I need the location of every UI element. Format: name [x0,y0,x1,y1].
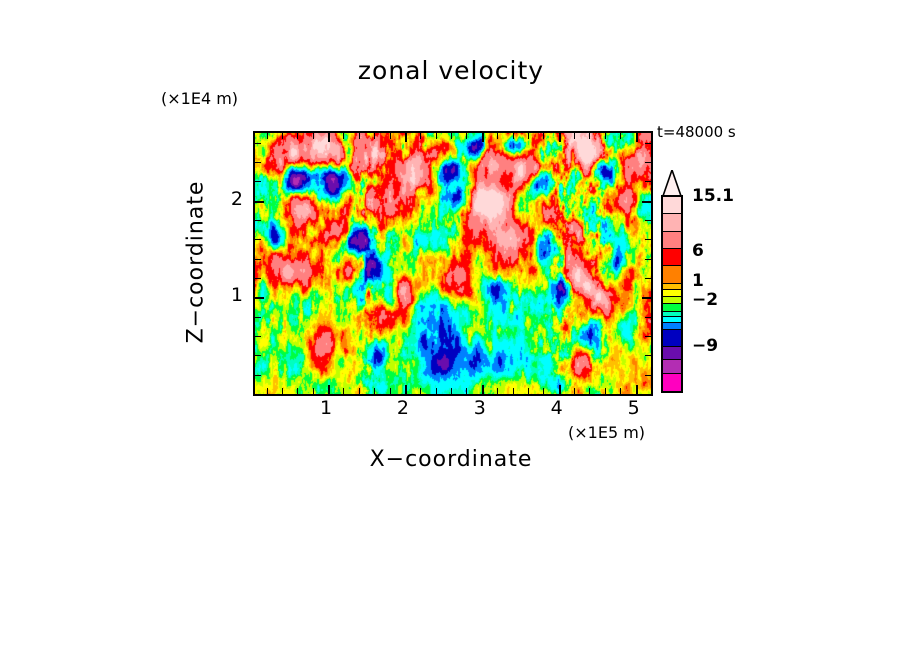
major-tick [328,385,330,394]
minor-tick [359,388,360,394]
x-tick-label: 2 [397,397,409,419]
x-tick-label: 1 [320,397,332,419]
y-axis-title: Z−coordinate [184,181,209,344]
colorbar-label: −2 [692,290,718,310]
x-axis-unit-label: (×1E5 m) [568,423,645,442]
colorbar-band [663,360,681,373]
minor-tick [645,355,651,356]
minor-tick [343,388,344,394]
minor-tick [451,388,452,394]
minor-tick [282,388,283,394]
minor-tick [589,388,590,394]
major-tick [642,201,651,203]
major-tick [405,385,407,394]
colorbar-band [663,290,681,297]
minor-tick [645,278,651,279]
colorbar-band [663,330,681,347]
minor-tick [513,133,514,139]
colorbar-band [663,214,681,231]
x-axis-title: X−coordinate [253,447,649,472]
minor-tick [451,133,452,139]
minor-tick [255,259,261,260]
minor-tick [255,239,261,240]
colorbar-label: −9 [692,336,718,356]
minor-tick [267,133,268,139]
major-tick [636,385,638,394]
minor-tick [255,375,261,376]
minor-tick [255,278,261,279]
x-tick-label: 5 [628,397,640,419]
major-tick [642,297,651,299]
minor-tick [589,133,590,139]
minor-tick [543,388,544,394]
major-tick [482,385,484,394]
minor-tick [645,336,651,337]
major-tick [255,297,264,299]
major-tick [559,133,561,142]
major-tick [636,133,638,142]
minor-tick [605,133,606,139]
x-tick-label: 3 [474,397,486,419]
minor-tick [436,133,437,139]
minor-tick [255,162,261,163]
minor-tick [297,133,298,139]
colorbar-label: 15.1 [692,186,734,206]
major-tick [559,385,561,394]
colorbar-band [663,347,681,360]
minor-tick [313,133,314,139]
minor-tick [420,133,421,139]
colorbar-bands [661,195,683,393]
colorbar-band [663,232,681,249]
minor-tick [528,133,529,139]
colorbar-band [663,374,681,391]
minor-tick [574,133,575,139]
colorbar-band [663,304,681,312]
minor-tick [282,133,283,139]
x-tick-label: 4 [551,397,563,419]
time-annotation: t=48000 s [657,123,736,141]
colorbar-band [663,284,681,291]
minor-tick [255,220,261,221]
minor-tick [605,388,606,394]
minor-tick [374,133,375,139]
minor-tick [255,355,261,356]
minor-tick [497,133,498,139]
minor-tick [620,388,621,394]
y-tick-label: 1 [231,284,243,306]
y-axis-unit-label: (×1E4 m) [161,89,238,108]
figure-canvas: zonal velocity (×1E4 m) t=48000 s 12345 … [0,0,904,654]
minor-tick [645,220,651,221]
minor-tick [466,388,467,394]
minor-tick [645,143,651,144]
colorbar-band [663,249,681,266]
minor-tick [528,388,529,394]
minor-tick [466,133,467,139]
minor-tick [543,133,544,139]
minor-tick [313,388,314,394]
minor-tick [343,133,344,139]
major-tick [482,133,484,142]
minor-tick [513,388,514,394]
minor-tick [255,336,261,337]
minor-tick [255,317,261,318]
minor-tick [390,133,391,139]
minor-tick [436,388,437,394]
minor-tick [645,239,651,240]
colorbar [661,170,683,393]
minor-tick [255,143,261,144]
minor-tick [359,133,360,139]
minor-tick [497,388,498,394]
colorbar-label: 1 [692,271,704,291]
minor-tick [574,388,575,394]
minor-tick [390,388,391,394]
colorbar-band [663,297,681,304]
minor-tick [255,181,261,182]
colorbar-arrow-icon [661,170,683,196]
minor-tick [297,388,298,394]
plot-area [253,131,653,396]
minor-tick [645,317,651,318]
minor-tick [267,388,268,394]
major-tick [328,133,330,142]
minor-tick [645,162,651,163]
velocity-field-heatmap [255,133,651,394]
minor-tick [645,181,651,182]
minor-tick [645,375,651,376]
minor-tick [374,388,375,394]
colorbar-label: 6 [692,241,704,261]
colorbar-band [663,323,681,330]
y-tick-label: 2 [231,188,243,210]
colorbar-band [663,197,681,214]
minor-tick [420,388,421,394]
colorbar-band [663,266,681,283]
major-tick [405,133,407,142]
page-title: zonal velocity [253,56,649,85]
major-tick [255,201,264,203]
minor-tick [620,133,621,139]
minor-tick [645,259,651,260]
